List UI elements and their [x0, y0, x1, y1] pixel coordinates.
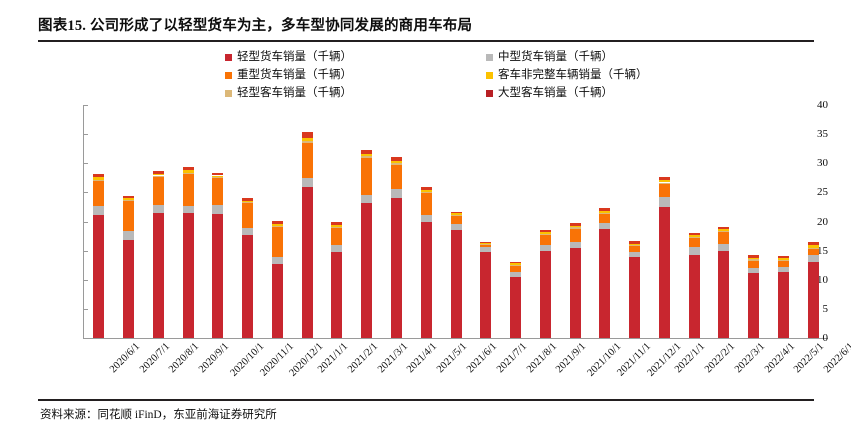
x-axis-tick-label: 2022/4/1 — [763, 341, 797, 375]
bar-segment — [212, 178, 223, 204]
bar-segment — [361, 156, 372, 158]
bar-segment — [302, 178, 313, 187]
bar-segment — [748, 261, 759, 268]
x-axis-tick-label: 2020/7/1 — [138, 341, 172, 375]
bar-segment — [808, 245, 819, 247]
bar-segment — [540, 232, 551, 234]
bar-segment — [540, 235, 551, 245]
bar-segment — [629, 244, 640, 245]
bar-segment — [748, 255, 759, 257]
x-axis-tick-label: 2022/5/1 — [792, 341, 826, 375]
legend-label: 重型货车销量（千辆） — [237, 69, 352, 81]
x-axis-tick-label: 2022/2/1 — [703, 341, 737, 375]
page-title: 图表15. 公司形成了以轻型货车为主，多车型协同发展的商用车布局 — [38, 14, 814, 35]
bar-segment — [778, 267, 789, 272]
bar-segment — [689, 237, 700, 238]
x-axis-line — [83, 338, 828, 339]
legend-label: 客车非完整车辆销量（千辆） — [498, 69, 648, 81]
bar-segment — [421, 215, 432, 223]
bar-segment — [451, 224, 462, 230]
bar-segment — [540, 234, 551, 235]
bar-segment — [391, 198, 402, 338]
bar-segment — [510, 265, 521, 272]
legend-swatch-icon — [486, 72, 493, 79]
bar-segment — [183, 174, 194, 206]
title-divider — [38, 40, 814, 42]
bar-segment — [331, 225, 342, 227]
bar-segment — [540, 245, 551, 250]
legend-item[interactable]: 轻型客车销量（千辆） — [225, 85, 352, 101]
legend-swatch-icon — [225, 72, 232, 79]
bar-segment — [361, 195, 372, 203]
chart-page: 图表15. 公司形成了以轻型货车为主，多车型协同发展的商用车布局 轻型货车销量（… — [0, 0, 851, 439]
bar-segment — [272, 264, 283, 338]
legend-item[interactable]: 客车非完整车辆销量（千辆） — [486, 67, 648, 83]
bar-segment — [718, 251, 729, 338]
bar-segment — [748, 268, 759, 274]
bar-segment — [153, 176, 164, 177]
bar-segment — [153, 174, 164, 176]
bar-segment — [391, 157, 402, 161]
bar-segment — [451, 213, 462, 214]
bar-segment — [421, 190, 432, 192]
bar-segment — [421, 187, 432, 190]
legend-label: 大型客车销量（千辆） — [498, 87, 613, 99]
bar-segment — [242, 202, 253, 203]
bar-segment — [242, 201, 253, 203]
x-axis-tick-label: 2021/6/1 — [465, 341, 499, 375]
bar-segment — [808, 262, 819, 338]
bar-segment — [689, 233, 700, 235]
legend-item[interactable]: 中型货车销量（千辆） — [486, 49, 648, 65]
bar-segment — [451, 215, 462, 216]
bar-segment — [778, 272, 789, 338]
bar-segment — [718, 229, 729, 231]
bar-segment — [659, 184, 670, 197]
bar-segment — [629, 245, 640, 246]
bar-segment — [123, 231, 134, 240]
bar-segment — [599, 223, 610, 228]
bar-segment — [421, 193, 432, 215]
bar-segment — [153, 177, 164, 206]
plot-area: 0510152025303540 2020/6/12020/7/12020/8/… — [38, 105, 828, 345]
bar-segment — [599, 211, 610, 213]
bar-segment — [421, 222, 432, 338]
bar-segment — [302, 187, 313, 338]
bar-segment — [570, 227, 581, 228]
bar-segment — [272, 221, 283, 224]
bar-segment — [510, 265, 521, 266]
bar-segment — [361, 203, 372, 338]
bar-segment — [242, 228, 253, 235]
bar-segment — [718, 232, 729, 244]
chart-legend: 轻型货车销量（千辆）重型货车销量（千辆）轻型客车销量（千辆） 中型货车销量（千辆… — [38, 49, 814, 99]
bar-segment — [510, 272, 521, 277]
bar-segment — [570, 229, 581, 243]
x-axis-tick-label: 2022/6/1 — [822, 341, 851, 375]
bar-segment — [183, 173, 194, 175]
title-container: 图表15. 公司形成了以轻型货车为主，多车型协同发展的商用车布局 — [38, 14, 814, 35]
bar-segment — [808, 249, 819, 255]
bar-segment — [629, 252, 640, 257]
bar-segment — [510, 277, 521, 338]
bar-segment — [272, 226, 283, 227]
bar-segment — [480, 243, 491, 244]
bar-segment — [331, 252, 342, 338]
bar-segment — [331, 228, 342, 245]
legend-item[interactable]: 大型客车销量（千辆） — [486, 85, 648, 101]
x-axis-tick-label: 2021/3/1 — [376, 341, 410, 375]
bar-segment — [123, 198, 134, 200]
legend-swatch-icon — [486, 90, 493, 97]
bar-segment — [778, 258, 789, 260]
bar-segment — [183, 167, 194, 170]
bar-segment — [391, 165, 402, 189]
bar-segment — [183, 213, 194, 338]
bar-segment — [212, 177, 223, 178]
bar-segment — [748, 273, 759, 338]
bar-segment — [599, 208, 610, 211]
bar-segment — [123, 201, 134, 231]
legend-item[interactable]: 重型货车销量（千辆） — [225, 67, 352, 83]
bar-segment — [480, 247, 491, 252]
bar-segment — [570, 226, 581, 228]
bar-series-container — [84, 105, 828, 338]
bar-segment — [153, 213, 164, 338]
bar-segment — [689, 235, 700, 237]
bar-segment — [183, 206, 194, 213]
bar-segment — [659, 180, 670, 182]
bar-segment — [510, 262, 521, 264]
bar-segment — [93, 215, 104, 338]
source-note: 资料来源：同花顺 iFinD，东亚前海证券研究所 — [40, 406, 277, 422]
x-axis-tick-label: 2021/2/1 — [346, 341, 380, 375]
bar-segment — [212, 173, 223, 176]
bar-segment — [212, 214, 223, 338]
bar-segment — [302, 141, 313, 143]
bar-segment — [391, 189, 402, 198]
x-axis-tick-label: 2020/6/1 — [108, 341, 142, 375]
bar-segment — [242, 235, 253, 338]
bar-segment — [689, 238, 700, 247]
bar-segment — [391, 161, 402, 163]
bar-segment — [451, 212, 462, 214]
bar-segment — [451, 230, 462, 338]
bar-segment — [361, 158, 372, 195]
bar-segment — [808, 255, 819, 262]
x-axis-tick-label: 2021/5/1 — [435, 341, 469, 375]
bar-segment — [302, 143, 313, 178]
bar-segment — [331, 222, 342, 225]
bar-segment — [361, 150, 372, 154]
footer-divider — [38, 399, 814, 401]
legend-column-right: 中型货车销量（千辆）客车非完整车辆销量（千辆）大型客车销量（千辆） — [486, 49, 648, 103]
bar-segment — [718, 227, 729, 229]
bar-segment — [778, 261, 789, 267]
bar-segment — [480, 244, 491, 245]
bar-segment — [123, 240, 134, 338]
x-axis-tick-label: 2021/4/1 — [405, 341, 439, 375]
bar-segment — [272, 227, 283, 257]
bar-segment — [659, 207, 670, 338]
bar-segment — [599, 213, 610, 214]
bar-segment — [212, 176, 223, 178]
x-axis-tick-label: 2022/3/1 — [733, 341, 767, 375]
x-axis-tick-label: 2020/8/1 — [167, 341, 201, 375]
bar-segment — [183, 170, 194, 172]
bar-segment — [599, 214, 610, 223]
bar-segment — [421, 192, 432, 193]
bar-segment — [123, 200, 134, 201]
y-axis-tick-mark — [83, 338, 88, 339]
bar-segment — [93, 180, 104, 182]
bar-segment — [93, 177, 104, 179]
bar-segment — [659, 183, 670, 185]
bar-segment — [510, 263, 521, 264]
bar-segment — [331, 227, 342, 228]
bar-segment — [540, 230, 551, 232]
bar-segment — [659, 197, 670, 207]
bar-segment — [242, 198, 253, 201]
x-axis-tick-label: 2021/7/1 — [495, 341, 529, 375]
bar-segment — [778, 256, 789, 258]
bar-segment — [778, 260, 789, 261]
bar-segment — [480, 252, 491, 338]
bar-segment — [123, 196, 134, 198]
bar-segment — [391, 163, 402, 165]
legend-swatch-icon — [486, 54, 493, 61]
legend-item[interactable]: 轻型货车销量（千辆） — [225, 49, 352, 65]
bar-segment — [242, 203, 253, 227]
bar-segment — [629, 241, 640, 243]
bar-segment — [570, 248, 581, 338]
bar-segment — [540, 251, 551, 338]
x-axis-labels: 2020/6/12020/7/12020/8/12020/9/12020/10/… — [84, 341, 828, 441]
x-axis-tick-label: 2021/9/1 — [554, 341, 588, 375]
bar-segment — [361, 154, 372, 156]
bar-segment — [212, 205, 223, 214]
bar-segment — [451, 216, 462, 224]
bar-segment — [570, 223, 581, 226]
bar-segment — [718, 244, 729, 251]
bar-segment — [153, 205, 164, 213]
bar-segment — [93, 174, 104, 177]
bar-segment — [808, 248, 819, 249]
bar-segment — [570, 242, 581, 247]
bar-segment — [480, 244, 491, 246]
bar-segment — [629, 246, 640, 252]
bar-segment — [629, 257, 640, 338]
bar-segment — [689, 247, 700, 256]
bar-segment — [331, 245, 342, 251]
bar-segment — [93, 206, 104, 215]
bar-segment — [748, 259, 759, 260]
bar-segment — [599, 229, 610, 339]
legend-swatch-icon — [225, 90, 232, 97]
x-axis-tick-label: 2020/9/1 — [197, 341, 231, 375]
bar-segment — [302, 132, 313, 138]
bar-segment — [272, 224, 283, 226]
legend-column-left: 轻型货车销量（千辆）重型货车销量（千辆）轻型客车销量（千辆） — [225, 49, 352, 103]
x-axis-tick-label: 2021/8/1 — [524, 341, 558, 375]
bar-segment — [659, 177, 670, 180]
legend-label: 中型货车销量（千辆） — [498, 51, 613, 63]
bar-segment — [808, 242, 819, 245]
bar-segment — [689, 255, 700, 338]
bar-segment — [302, 138, 313, 141]
bar-segment — [93, 181, 104, 206]
bar-segment — [153, 171, 164, 174]
legend-swatch-icon — [225, 54, 232, 61]
legend-label: 轻型货车销量（千辆） — [237, 51, 352, 63]
bar-segment — [272, 257, 283, 264]
legend-label: 轻型客车销量（千辆） — [237, 87, 352, 99]
bar-segment — [718, 231, 729, 232]
bar-segment — [480, 242, 491, 243]
bar-segment — [748, 258, 759, 260]
